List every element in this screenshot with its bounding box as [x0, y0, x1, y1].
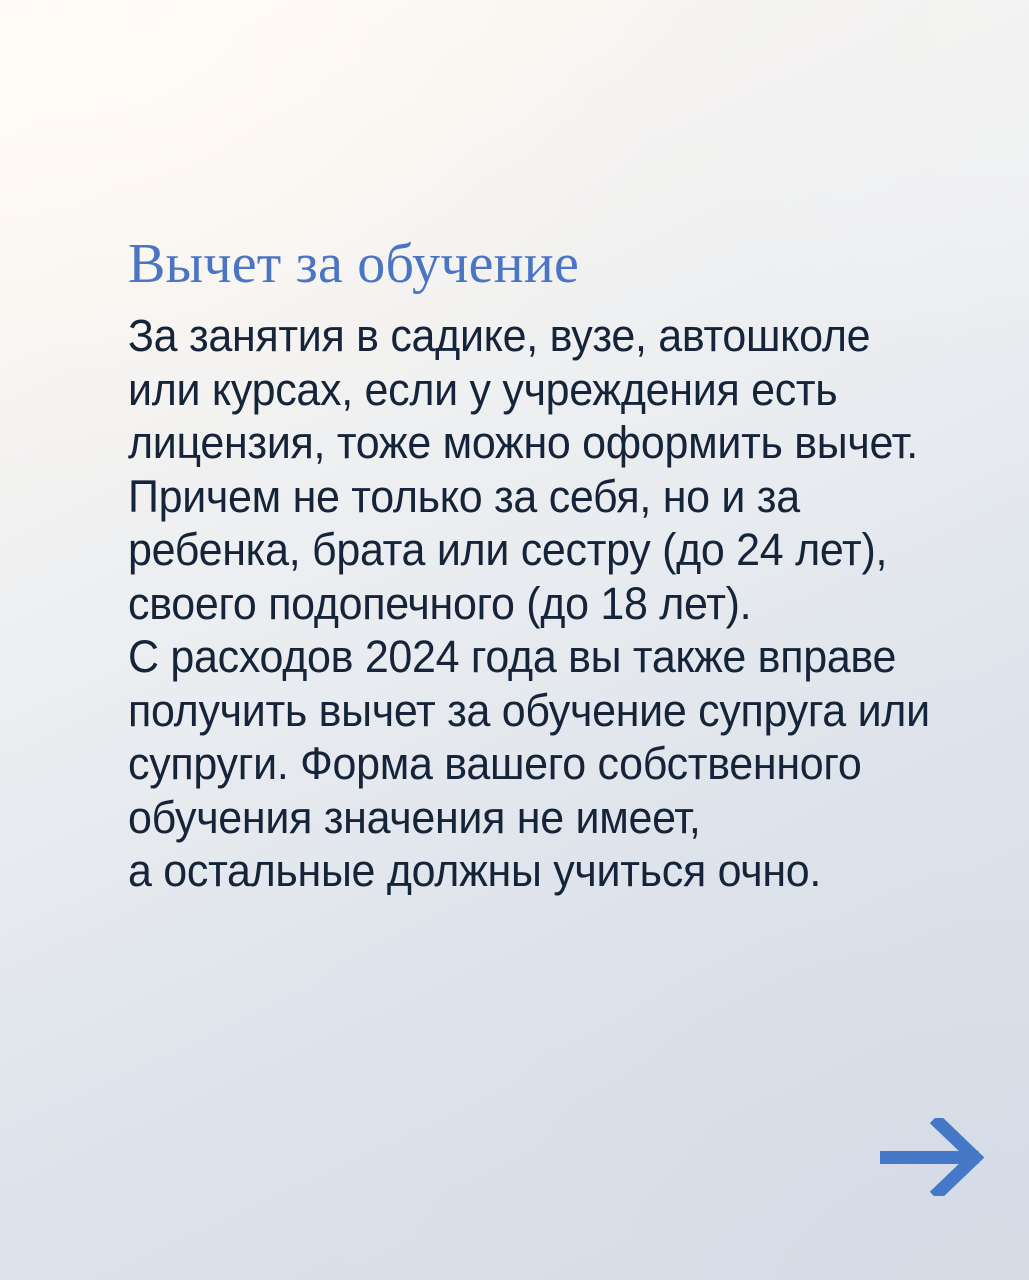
body-line: получить вычет за обучение супруга или	[128, 684, 949, 738]
body-line: своего подопечного (до 18 лет).	[128, 577, 949, 631]
body-line: супруги. Форма вашего собственного	[128, 737, 949, 791]
arrow-right-icon	[880, 1118, 988, 1196]
body-line: За занятия в садике, вузе, автошколе	[128, 309, 949, 363]
body-line: или курсах, если у учреждения есть	[128, 363, 949, 417]
body-line: С расходов 2024 года вы также вправе	[128, 630, 949, 684]
next-slide-button[interactable]	[880, 1118, 988, 1196]
body-paragraph: За занятия в садике, вузе, автошколе или…	[128, 309, 949, 898]
card-content: Вычет за обучение За занятия в садике, в…	[128, 236, 988, 898]
body-line: а остальные должны учиться очно.	[128, 844, 949, 898]
body-line: ребенка, брата или сестру (до 24 лет),	[128, 523, 949, 577]
body-line: лицензия, тоже можно оформить вычет.	[128, 416, 949, 470]
body-line: обучения значения не имеет,	[128, 791, 949, 845]
page-title: Вычет за обучение	[128, 236, 988, 293]
body-line: Причем не только за себя, но и за	[128, 470, 949, 524]
info-card-slide: Вычет за обучение За занятия в садике, в…	[0, 0, 1029, 1280]
